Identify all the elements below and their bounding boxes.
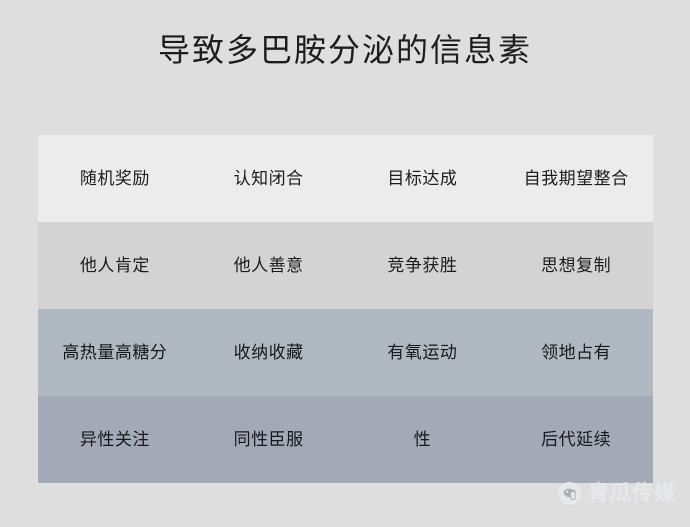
logo-circle-icon xyxy=(558,482,581,505)
table-row: 他人肯定 他人善意 竞争获胜 思想复制 xyxy=(38,222,653,309)
table-cell: 同性臣服 xyxy=(192,428,346,452)
table-cell: 他人肯定 xyxy=(38,254,192,278)
table-cell: 思想复制 xyxy=(499,254,653,278)
table-cell: 他人善意 xyxy=(192,254,346,278)
table-cell: 异性关注 xyxy=(38,428,192,452)
table-cell: 高热量高糖分 xyxy=(38,341,192,365)
table-cell: 随机奖励 xyxy=(38,167,192,191)
table-row: 高热量高糖分 收纳收藏 有氧运动 领地占有 xyxy=(38,309,653,396)
table-cell: 认知闭合 xyxy=(192,167,346,191)
page-title: 导致多巴胺分泌的信息素 xyxy=(0,28,690,72)
table-cell: 收纳收藏 xyxy=(192,341,346,365)
table-cell: 竞争获胜 xyxy=(346,254,500,278)
watermark-label: 青瓜传媒 xyxy=(588,482,676,505)
watermark: 青瓜传媒 xyxy=(558,482,676,505)
dopamine-trigger-matrix: 随机奖励 认知闭合 目标达成 自我期望整合 他人肯定 他人善意 竞争获胜 思想复… xyxy=(38,135,653,483)
table-cell: 有氧运动 xyxy=(346,341,500,365)
table-cell: 后代延续 xyxy=(499,428,653,452)
document-page: 导致多巴胺分泌的信息素 随机奖励 认知闭合 目标达成 自我期望整合 他人肯定 他… xyxy=(0,0,690,527)
table-cell: 目标达成 xyxy=(346,167,500,191)
table-cell: 性 xyxy=(346,428,500,452)
table-row: 随机奖励 认知闭合 目标达成 自我期望整合 xyxy=(38,135,653,222)
table-row: 异性关注 同性臣服 性 后代延续 xyxy=(38,396,653,483)
table-cell: 领地占有 xyxy=(499,341,653,365)
table-cell: 自我期望整合 xyxy=(499,167,653,191)
